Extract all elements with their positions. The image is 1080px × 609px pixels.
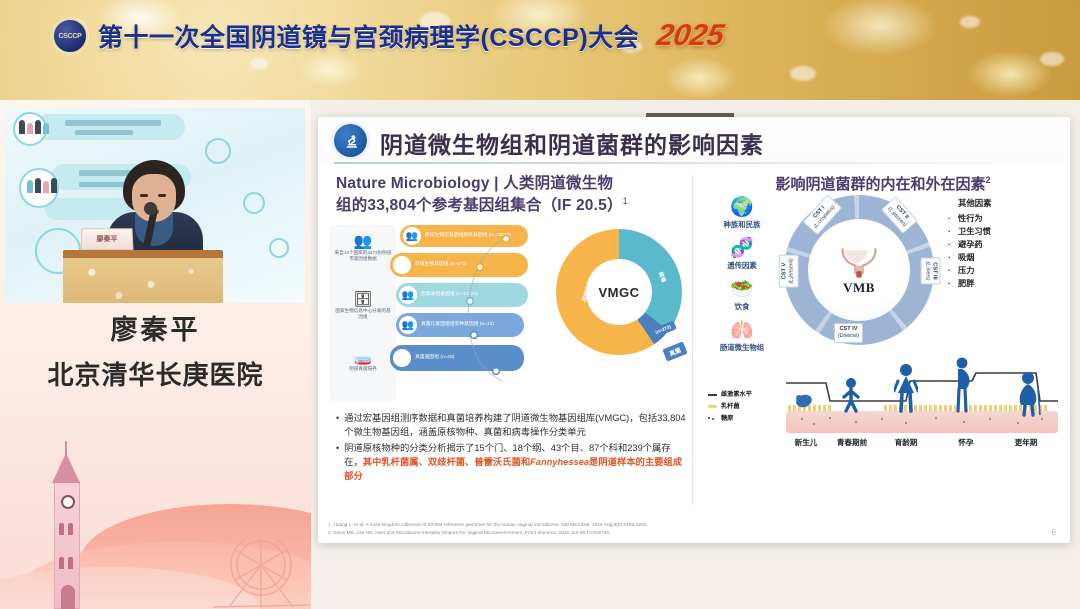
left-column: Nature Microbiology | 人类阴道微生物 组的33,804个参… xyxy=(326,169,692,543)
csccp-logo-icon: CSCCP xyxy=(52,18,88,54)
microscope-icon xyxy=(334,124,367,157)
stage-label: 育龄期 xyxy=(884,437,928,448)
left-heading-line2: 组的33,804个参考基因组集合（IF 20.5） xyxy=(336,198,623,215)
legend-item: 雌激素水平 xyxy=(708,389,786,401)
right-heading: 影响阴道菌群的内在和外在因素2 xyxy=(696,169,1070,194)
cst-segment-3: CST III (L.iners) xyxy=(921,257,941,284)
title-divider xyxy=(334,162,1054,164)
cst-id: CST III xyxy=(931,262,937,279)
vmb-label: VMB xyxy=(843,280,875,296)
factor-label: 遗传因素 xyxy=(700,260,784,271)
bullet-marker: • xyxy=(336,442,339,484)
dna-icon: 🧬 xyxy=(700,238,784,260)
speaker-caption: 廖秦平 北京清华长庚医院 xyxy=(0,308,311,392)
factor-label: 种族和民族 xyxy=(700,219,784,230)
slide-body: Nature Microbiology | 人类阴道微生物 组的33,804个参… xyxy=(318,169,1070,543)
adult-woman-figure-icon xyxy=(894,363,918,413)
uterus-icon xyxy=(837,245,881,279)
slide-page-number: 6 xyxy=(1052,528,1056,537)
stage-label: 怀孕 xyxy=(946,437,986,448)
cst-segment-5: CST V (L.jensenii) xyxy=(779,254,799,287)
source-item: 👥 来自14个国家的4473份阴道市基因组数据 xyxy=(330,233,396,262)
slide-header: 阴道微生物组和阴道菌群的影响因素 xyxy=(318,117,1070,165)
right-heading-text: 影响阴道菌群的内在和外在因素 xyxy=(775,176,985,193)
bullet-item: • 阴道原核物种的分类分析揭示了15个门、18个纲、43个目、87个科和239个… xyxy=(336,442,688,484)
source-label: 阴道真菌培养 xyxy=(330,366,396,372)
app-root: CSCCP 第十一次全国阴道镜与宫颈病理学(CSCCP)大会 2025 xyxy=(0,0,1080,609)
banner-year: 2025 xyxy=(654,19,726,53)
factor-item: 🌍 种族和民族 xyxy=(700,197,784,230)
other-factor-item: 卫生习惯 xyxy=(942,226,1062,239)
estrogen-line-icon xyxy=(708,394,717,396)
vmgc-figure: 👥 来自14个国家的4473份阴道市基因组数据 🗄 国家生物信息中心分离的基因组… xyxy=(330,221,688,406)
globe-icon: 🌍 xyxy=(700,197,784,219)
intrinsic-factors-list: 🌍 种族和民族 🧬 遗传因素 🥗 饮食 🫁 肠道微生物组 xyxy=(700,197,784,361)
cst-species: (Diverse) xyxy=(838,333,859,339)
clock-tower-icon xyxy=(46,449,86,609)
other-factor-item: 吸烟 xyxy=(942,252,1062,265)
right-heading-sup: 2 xyxy=(986,175,991,185)
donut-center-label: VMGC xyxy=(586,259,652,325)
references-block: 1. Huang L, et al. A multi-kingdom colle… xyxy=(328,522,928,538)
factor-item: 🫁 肠道微生物组 xyxy=(700,320,784,353)
other-factor-item: 避孕药 xyxy=(942,239,1062,252)
speaker-panel: 廖秦平 廖秦平 北京清华长庚医院 xyxy=(0,100,311,609)
petri-icon: 🧫 xyxy=(330,349,396,366)
other-factor-item: 压力 xyxy=(942,265,1062,278)
newborn-figure-icon xyxy=(794,389,814,413)
bullet-item: • 通过宏基因组测序数据和真菌培养构建了阴道微生物基因组库(VMGC)，包括33… xyxy=(336,412,688,440)
decorative-scene xyxy=(0,419,311,609)
right-column: 影响阴道菌群的内在和外在因素2 🌍 种族和民族 🧬 遗传因素 🥗 饮食 xyxy=(696,169,1070,543)
legend-item: 乳杆菌 xyxy=(708,401,786,413)
people-icon: 👥 xyxy=(330,233,396,250)
connector-arcs xyxy=(400,225,520,397)
bullet-text-highlight: 其中乳杆菌属、双歧杆菌、普雷沃氏菌和 xyxy=(363,457,530,467)
source-item: 🧫 阴道真菌培养 xyxy=(330,349,396,372)
left-bullets: • 通过宏基因组测序数据和真菌培养构建了阴道微生物基因组库(VMGC)，包括33… xyxy=(336,412,688,486)
pregnant-figure-icon xyxy=(952,357,974,413)
nameplate-text: 廖秦平 xyxy=(96,234,117,244)
podium-nameplate: 廖秦平 xyxy=(80,228,133,250)
source-item: 🗄 国家生物信息中心分离的基因组 xyxy=(330,291,396,320)
speaker-organization: 北京清华长庚医院 xyxy=(0,355,311,392)
legend-label: 雌激素水平 xyxy=(721,389,752,401)
lifecycle-chart: 雌激素水平 乳杆菌 糖原 xyxy=(700,355,1066,485)
reference-item: 1. Huang L, et al. A multi-kingdom colle… xyxy=(328,522,928,530)
wheel-center: VMB xyxy=(808,219,910,321)
other-factors-title: 其他因素 xyxy=(942,197,1062,209)
gut-icon: 🫁 xyxy=(700,320,784,342)
cst-species: (L.jensenii) xyxy=(789,258,795,283)
elderly-figure-icon xyxy=(1016,371,1042,417)
vmgc-donut-chart: VMGC 原核生物 病毒 xyxy=(556,229,682,355)
bullet-marker: • xyxy=(336,412,339,440)
banner-title: 第十一次全国阴道镜与宫颈病理学(CSCCP)大会 xyxy=(98,18,639,54)
food-icon: 🥗 xyxy=(700,279,784,301)
presentation-slide[interactable]: 阴道微生物组和阴道菌群的影响因素 Nature Microbiology | 人… xyxy=(318,117,1070,543)
child-figure-icon xyxy=(842,377,860,413)
cst-wheel: VMB CST I (L.crispatus) CST II (L.gasser… xyxy=(784,195,934,345)
other-factor-item: 肥胖 xyxy=(942,278,1062,291)
data-sources-column: 👥 来自14个国家的4473份阴道市基因组数据 🗄 国家生物信息中心分离的基因组… xyxy=(330,225,396,401)
other-factors-box: 其他因素 性行为 卫生习惯 避孕药 吸烟 压力 肥胖 xyxy=(942,197,1062,291)
left-heading: Nature Microbiology | 人类阴道微生物 组的33,804个参… xyxy=(326,169,692,218)
bullet-text-group: 阴道原核物种的分类分析揭示了15个门、18个纲、43个目、87个科和239个属存… xyxy=(344,442,688,484)
factor-label: 肠道微生物组 xyxy=(700,342,784,353)
column-divider xyxy=(692,175,693,505)
event-banner: CSCCP 第十一次全国阴道镜与宫颈病理学(CSCCP)大会 2025 xyxy=(0,0,1080,100)
factor-item: 🥗 饮食 xyxy=(700,279,784,312)
cst-id: CST IV xyxy=(840,326,858,332)
database-icon: 🗄 xyxy=(330,291,396,308)
lactobacillus-bar-icon xyxy=(708,405,717,408)
donut-segment-label: 病毒 xyxy=(657,271,668,284)
cst-species: (L.iners) xyxy=(924,261,930,280)
slide-title: 阴道微生物组和阴道菌群的影响因素 xyxy=(380,126,764,160)
legend-label: 乳杆菌 xyxy=(721,401,740,413)
glycogen-dots-icon xyxy=(708,416,717,420)
reference-item: 2. Kwon MS, Lee HK. Host and Microbiome … xyxy=(328,530,928,538)
stage-label: 新生儿 xyxy=(786,437,826,448)
left-heading-sup: 1 xyxy=(623,196,628,206)
source-label: 来自14个国家的4473份阴道市基因组数据 xyxy=(330,250,396,262)
source-label: 国家生物信息中心分离的基因组 xyxy=(330,308,396,320)
stage-label: 青春期前 xyxy=(826,437,878,448)
ferris-wheel-icon xyxy=(199,539,311,609)
legend-item: 糖原 xyxy=(708,413,786,425)
cst-segment-4: CST IV (Diverse) xyxy=(834,323,863,343)
csccp-logo-text: CSCCP xyxy=(58,33,81,40)
left-heading-line1: Nature Microbiology | 人类阴道微生物 xyxy=(336,175,613,192)
factor-label: 饮食 xyxy=(700,301,784,312)
stage-label: 更年期 xyxy=(1004,437,1048,448)
donut-fungi-tag: 真菌 xyxy=(662,341,687,361)
factor-item: 🧬 遗传因素 xyxy=(700,238,784,271)
lifecycle-legend: 雌激素水平 乳杆菌 糖原 xyxy=(708,389,786,424)
bullet-text: 通过宏基因组测序数据和真菌培养构建了阴道微生物基因组库(VMGC)，包括33,8… xyxy=(344,412,688,440)
speaker-video[interactable]: 廖秦平 xyxy=(5,108,305,303)
other-factor-item: 性行为 xyxy=(942,213,1062,226)
legend-label: 糖原 xyxy=(721,413,733,425)
bullet-text-italic: Fannyhessea xyxy=(530,457,589,467)
speaker-name: 廖秦平 xyxy=(0,308,311,347)
cst-id: CST V xyxy=(782,263,788,279)
podium xyxy=(63,250,223,303)
